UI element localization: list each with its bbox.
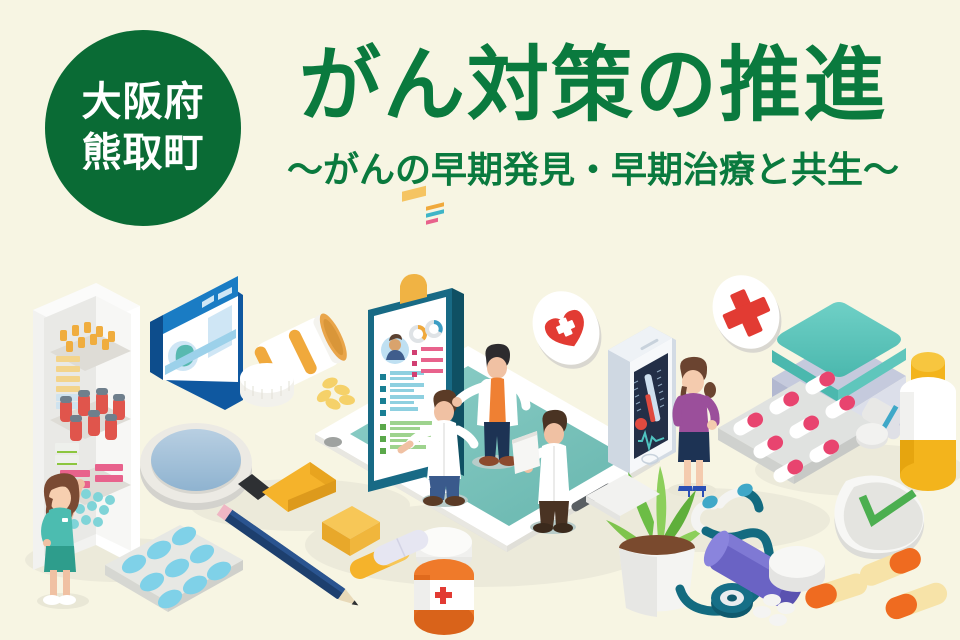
page-title: がん対策の推進 (258, 42, 928, 131)
smartphone-thermometer (608, 326, 676, 474)
bottle-cap (240, 363, 294, 407)
pill-bottle-spilled (240, 310, 355, 412)
region-badge-line1: 大阪府 (82, 77, 205, 128)
cancer-prevention-banner: 大阪府 熊取町 がん対策の推進 〜がんの早期発見・早期治療と共生〜 (0, 0, 960, 640)
medicine-bottle-yellow (900, 352, 956, 491)
header: 大阪府 熊取町 がん対策の推進 〜がんの早期発見・早期治療と共生〜 (0, 0, 960, 235)
heart-cross-badge (520, 279, 614, 380)
spilled-pills (315, 376, 356, 412)
page-subtitle: 〜がんの早期発見・早期治療と共生〜 (258, 141, 928, 193)
region-badge: 大阪府 熊取町 (45, 30, 241, 226)
title-block: がん対策の推進 〜がんの早期発見・早期治療と共生〜 (258, 42, 928, 193)
health-record-card (150, 276, 243, 410)
region-badge-line2: 熊取町 (82, 128, 205, 179)
red-cross-badge (700, 263, 794, 364)
